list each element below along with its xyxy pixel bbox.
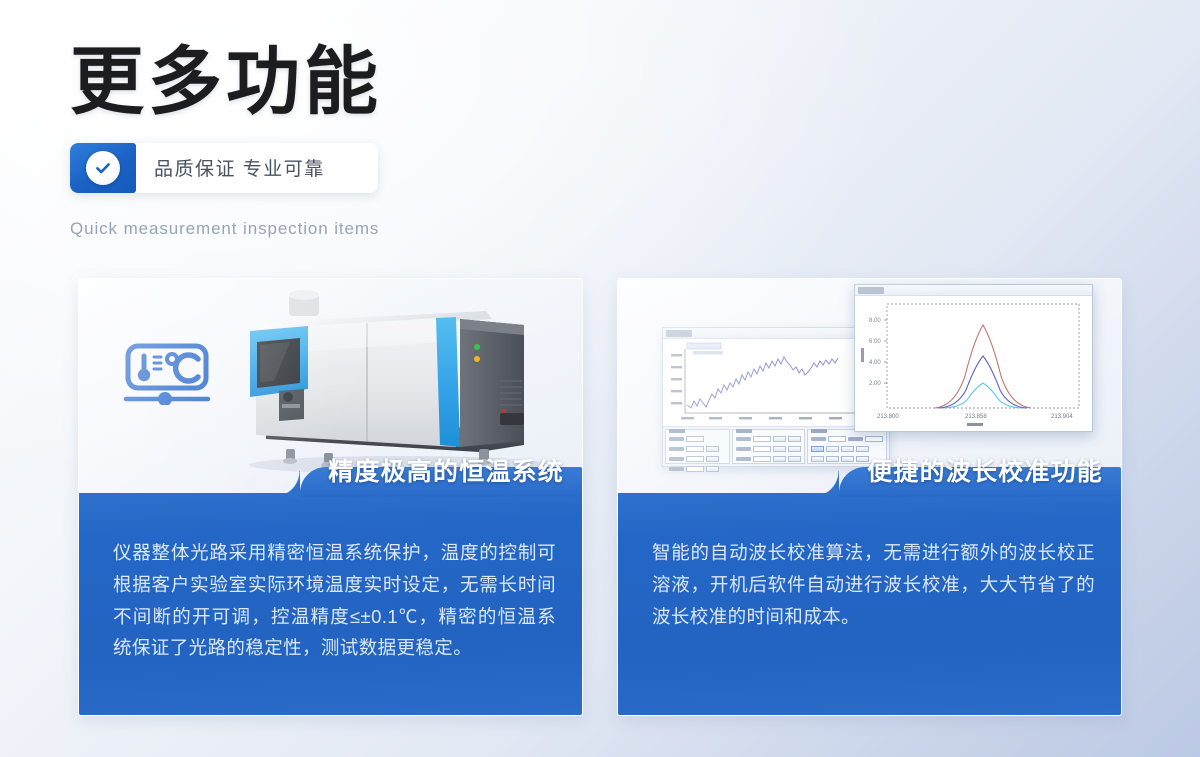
control-group-sample[interactable]: [665, 429, 730, 464]
card-body-constant-temperature: 仪器整体光路采用精密恒温系统保护，温度的控制可根据客户实验室实际环境温度实时设定…: [113, 537, 556, 664]
card-body-wavelength-calibration: 智能的自动波长校准算法，无需进行额外的波长校正溶液，开机后软件自动进行波长校准，…: [652, 537, 1095, 632]
check-circle-icon: [86, 151, 120, 185]
card-panel-constant-temperature: 精度极高的恒温系统 仪器整体光路采用精密恒温系统保护，温度的控制可根据客户实验室…: [79, 493, 582, 715]
group-label: [736, 429, 752, 433]
page-header: 更多功能 品质保证 专业可靠 Quick measurement inspect…: [70, 42, 770, 239]
peak-profile-chart: 8.00 6.00 4.00 2.00 213.800: [855, 296, 1092, 431]
svg-text:213.858: 213.858: [965, 414, 987, 420]
page-title: 更多功能: [70, 42, 770, 125]
quality-badge: 品质保证 专业可靠: [70, 143, 378, 193]
card-panel-wavelength-calibration: 便捷的波长校准功能 智能的自动波长校准算法，无需进行额外的波长校正溶液，开机后软…: [618, 493, 1121, 715]
badge-label: 品质保证 专业可靠: [136, 143, 378, 193]
control-panel-row[interactable]: [663, 426, 889, 466]
svg-text:2.00: 2.00: [869, 381, 881, 387]
feature-card-wavelength-calibration[interactable]: 8.00 6.00 4.00 2.00 213.800: [617, 278, 1122, 716]
svg-text:8.00: 8.00: [869, 318, 881, 324]
thermostat-temperature-icon: [122, 343, 212, 405]
window-title-text: [666, 330, 692, 337]
control-group-gas[interactable]: [732, 429, 805, 464]
badge-check-block: [70, 143, 136, 193]
feature-cards: 精度极高的恒温系统 仪器整体光路采用精密恒温系统保护，温度的控制可根据客户实验室…: [78, 278, 1122, 716]
svg-text:213.800: 213.800: [877, 414, 899, 420]
svg-text:6.00: 6.00: [869, 339, 881, 345]
panel-shoulder: 便捷的波长校准功能: [839, 467, 1121, 497]
card-title-constant-temperature: 精度极高的恒温系统: [328, 449, 564, 491]
group-label: [811, 429, 827, 433]
panel-shoulder: 精度极高的恒温系统: [300, 467, 582, 497]
window-title-text: [858, 287, 884, 294]
card-title-wavelength-calibration: 便捷的波长校准功能: [867, 449, 1103, 491]
peak-profile-window[interactable]: 8.00 6.00 4.00 2.00 213.800: [854, 284, 1093, 432]
svg-text:213.904: 213.904: [1051, 414, 1073, 420]
group-label: [669, 429, 685, 433]
svg-text:4.00: 4.00: [869, 360, 881, 366]
page-subtitle: Quick measurement inspection items: [70, 219, 770, 239]
feature-card-constant-temperature[interactable]: 精度极高的恒温系统 仪器整体光路采用精密恒温系统保护，温度的控制可根据客户实验室…: [78, 278, 583, 716]
window-titlebar: [855, 285, 1092, 296]
